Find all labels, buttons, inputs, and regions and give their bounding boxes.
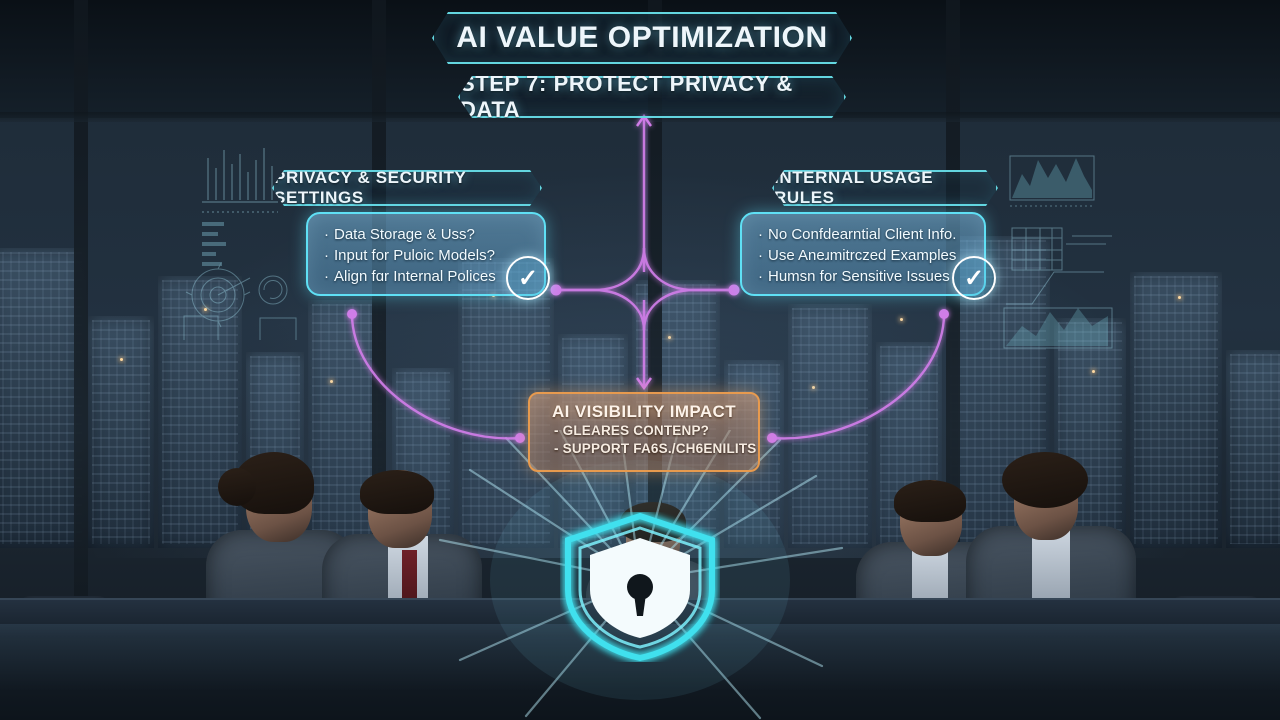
list-item: ·Input for Puloic Models? (324, 245, 530, 266)
bullet-marker: · (758, 247, 763, 264)
internal-usage-panel[interactable]: ·No Confdearntial Client Info. ·Use Aneɹ… (740, 212, 986, 296)
shield-lock-icon (560, 512, 720, 662)
list-item: ·Data Storage & Uss? (324, 224, 530, 245)
list-item: ·Humsn for Sensitive Issues (758, 266, 970, 287)
bullet-marker: · (324, 247, 329, 264)
list-item: ·No Confdearntial Client Info. (758, 224, 970, 245)
check-icon: ✓ (506, 256, 550, 300)
infographic-canvas: AI VALUE OPTIMIZATION STEP 7: PROTECT PR… (0, 0, 1280, 720)
bullet-marker: · (758, 226, 763, 243)
bullet-marker: - (554, 441, 559, 456)
impact-title: AI VISIBILITY IMPACT (540, 402, 748, 422)
step-subtitle: STEP 7: PROTECT PRIVACY & DATA (458, 76, 846, 118)
left-node-header: PRIVACY & SECURITY SETTINGS (272, 170, 542, 206)
ai-visibility-impact-panel[interactable]: AI VISIBILITY IMPACT - GLEARES CONTENP? … (528, 392, 760, 472)
bullet-marker: · (324, 226, 329, 243)
list-item: ·Align fɑr Internal Polices (324, 266, 530, 287)
list-item: - GLEARES CONTENP? (540, 422, 748, 440)
bullet-marker: · (324, 268, 329, 285)
bullet-marker: · (758, 268, 763, 285)
bullet-marker: - (554, 423, 559, 438)
list-item: - SUPPORT FA6S./CH6ENILITS (540, 440, 748, 458)
page-title: AI VALUE OPTIMIZATION (432, 12, 852, 64)
check-icon: ✓ (952, 256, 996, 300)
right-node-header: INTERNAL USAGE RULES (772, 170, 998, 206)
list-item: ·Use Aneɹmitrczed Examples (758, 245, 970, 266)
